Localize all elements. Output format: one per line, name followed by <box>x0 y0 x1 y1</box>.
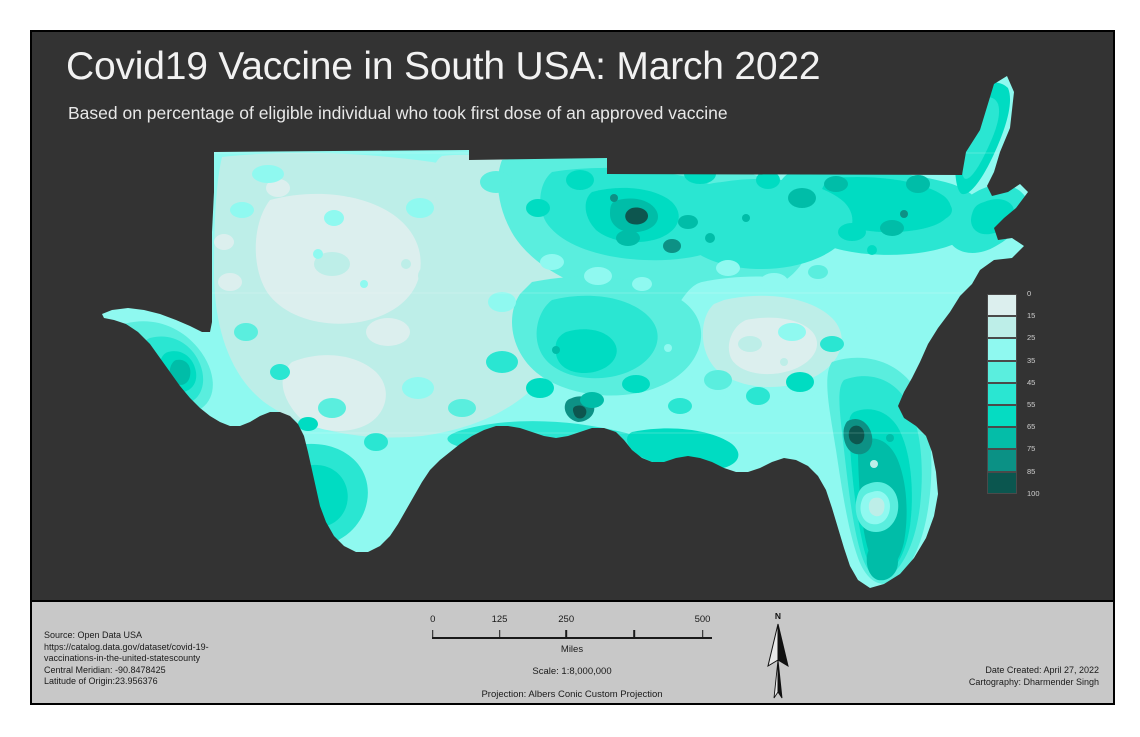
scale-tick-label: 125 <box>492 614 508 625</box>
legend-swatch <box>987 472 1017 494</box>
scale-tick <box>565 630 567 639</box>
source-line: https://catalog.data.gov/dataset/covid-1… <box>44 642 274 654</box>
scale-tick-label: 0 <box>430 614 435 625</box>
legend-label: 0 <box>1027 290 1031 298</box>
scale-tick <box>702 630 704 639</box>
legend-swatch <box>987 383 1017 405</box>
scale-tick-label: 500 <box>695 614 711 625</box>
map-footer-panel: Source: Open Data USA https://catalog.da… <box>32 600 1113 703</box>
source-line: Latitude of Origin:23.956376 <box>44 676 274 688</box>
legend-label-max: 100 <box>1027 490 1040 498</box>
legend-label: 75 <box>1027 445 1035 453</box>
legend-swatch <box>987 427 1017 449</box>
scale-tick <box>432 630 434 639</box>
map-data-frame[interactable]: Covid19 Vaccine in South USA: March 2022… <box>32 32 1113 600</box>
north-arrow-icon <box>760 622 796 700</box>
legend-row: 85 100 <box>987 472 1077 494</box>
scale-tick <box>634 630 636 639</box>
credits-block: Date Created: April 27, 2022 Cartography… <box>969 665 1099 688</box>
legend-swatch <box>987 338 1017 360</box>
legend-swatch <box>987 449 1017 471</box>
scale-ratio-text: Scale: 1:8,000,000 <box>427 666 717 677</box>
source-line: Central Meridian: -90.8478425 <box>44 665 274 677</box>
projection-text: Projection: Albers Conic Custom Projecti… <box>427 689 717 700</box>
north-arrow: N <box>760 612 796 700</box>
legend-label: 15 <box>1027 312 1035 320</box>
legend-swatch <box>987 405 1017 427</box>
legend-label: 85 <box>1027 468 1035 476</box>
legend-label: 25 <box>1027 334 1035 342</box>
source-line: Source: Open Data USA <box>44 630 274 642</box>
map-title: Covid19 Vaccine in South USA: March 2022 <box>66 44 820 90</box>
scale-bar-line <box>432 637 712 639</box>
legend-swatch <box>987 316 1017 338</box>
scale-tick-label: 250 <box>558 614 574 625</box>
legend-swatch <box>987 361 1017 383</box>
legend-label: 35 <box>1027 357 1035 365</box>
source-line: vaccinations-in-the-united-statescounty <box>44 653 274 665</box>
map-layout-frame: Covid19 Vaccine in South USA: March 2022… <box>30 30 1115 705</box>
scale-bar-numbers: 0 125 250 500 <box>427 614 717 627</box>
legend-label: 65 <box>1027 423 1035 431</box>
legend[interactable]: 0 15 25 35 45 <box>987 294 1077 494</box>
north-arrow-label: N <box>760 612 796 621</box>
credit-line: Cartography: Dharmender Singh <box>969 677 1099 689</box>
scale-tick <box>499 630 501 639</box>
legend-label: 55 <box>1027 401 1035 409</box>
scale-units-label: Miles <box>427 644 717 655</box>
legend-swatch <box>987 294 1017 316</box>
credit-line: Date Created: April 27, 2022 <box>969 665 1099 677</box>
scale-bar: 0 125 250 500 Miles Scale: 1:8,000,000 P… <box>427 614 717 700</box>
map-page: Covid19 Vaccine in South USA: March 2022… <box>0 0 1140 737</box>
source-info-block: Source: Open Data USA https://catalog.da… <box>44 630 274 688</box>
scale-bar-axis <box>427 629 717 640</box>
legend-label: 45 <box>1027 379 1035 387</box>
map-subtitle: Based on percentage of eligible individu… <box>68 102 728 124</box>
